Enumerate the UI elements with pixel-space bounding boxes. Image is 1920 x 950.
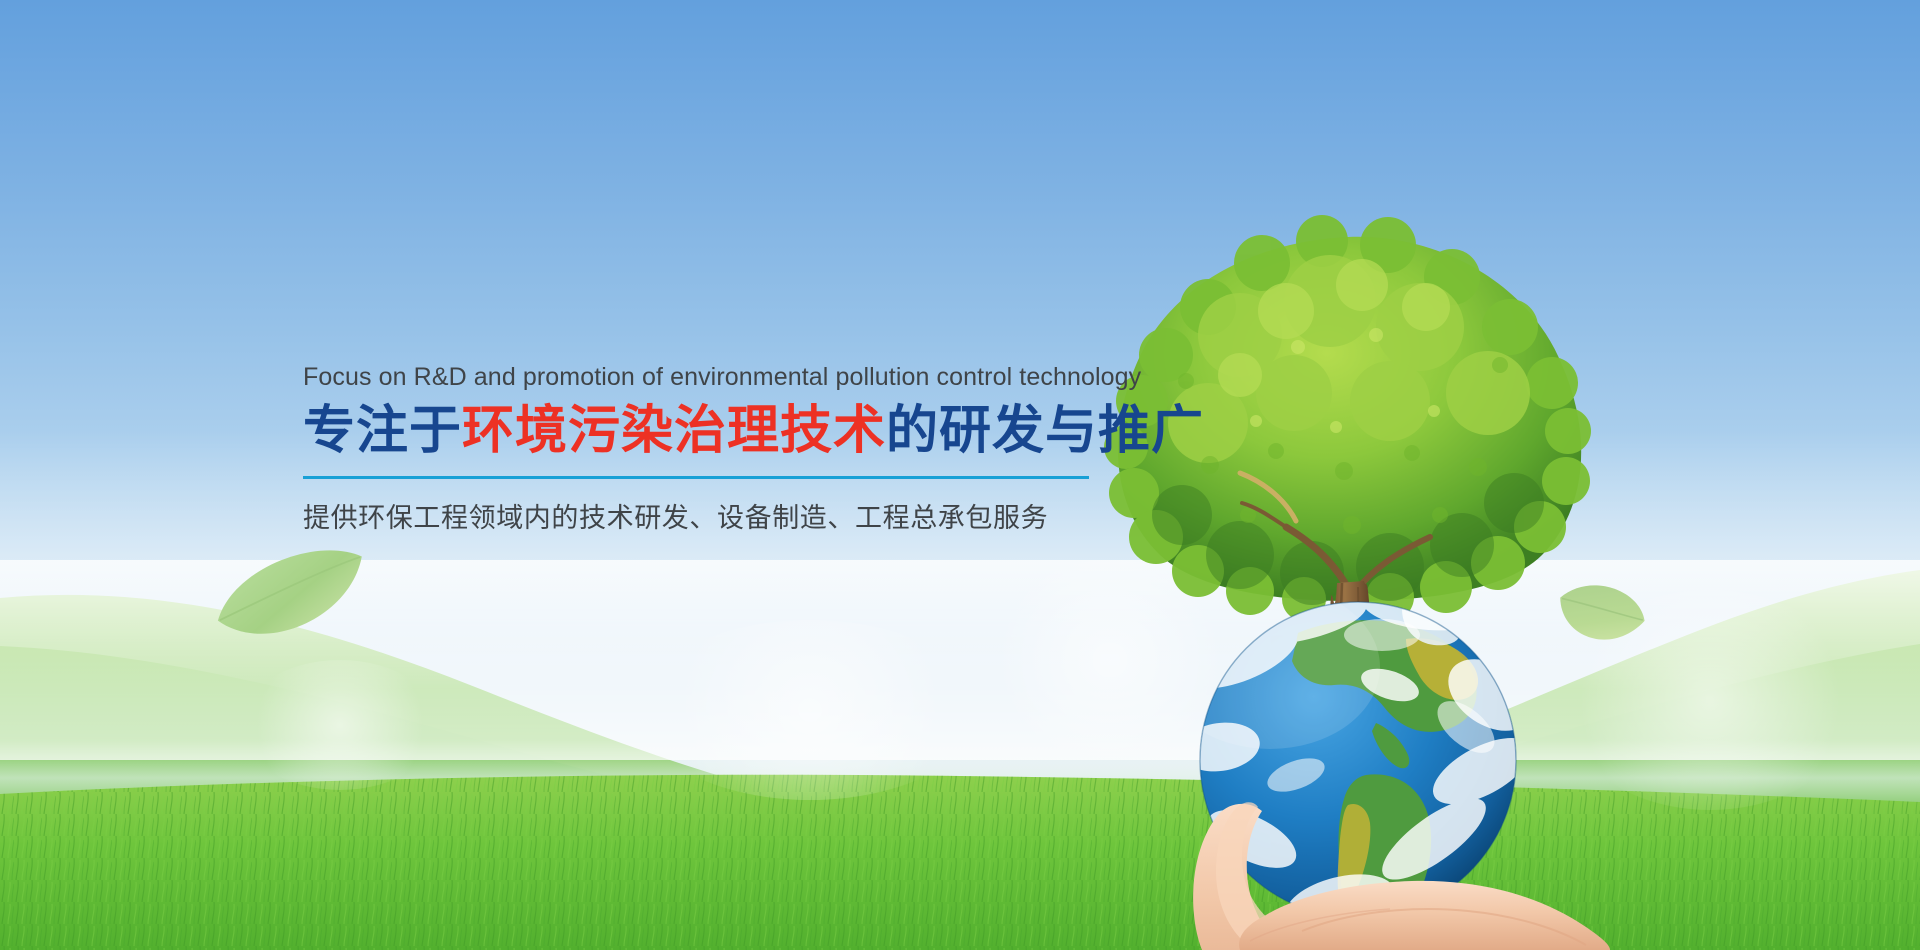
headline-highlight: 环境污染治理技术 <box>462 401 886 461</box>
light-glow <box>640 620 980 800</box>
light-glow <box>240 660 440 790</box>
tagline-english: Focus on R&D and promotion of environmen… <box>303 363 1093 392</box>
valley-mist <box>0 740 1920 830</box>
hero-copy-block: Focus on R&D and promotion of environmen… <box>303 363 1093 535</box>
headline-part-1: 专注于 <box>303 401 462 461</box>
foreground-grass <box>0 770 1920 950</box>
divider <box>303 476 1089 479</box>
subtitle: 提供环保工程领域内的技术研发、设备制造、工程总承包服务 <box>303 496 1093 535</box>
hero-banner: Focus on R&D and promotion of environmen… <box>0 0 1920 950</box>
tree-globe-hands-illustration <box>1090 215 1610 950</box>
headline-part-3: 的研发与推广 <box>886 401 1204 461</box>
leaf-icon <box>203 548 378 653</box>
page-title: 专注于环境污染治理技术的研发与推广 <box>303 402 1093 460</box>
hills-mid-layer <box>0 640 1920 950</box>
hills-back-layer <box>0 560 1920 950</box>
